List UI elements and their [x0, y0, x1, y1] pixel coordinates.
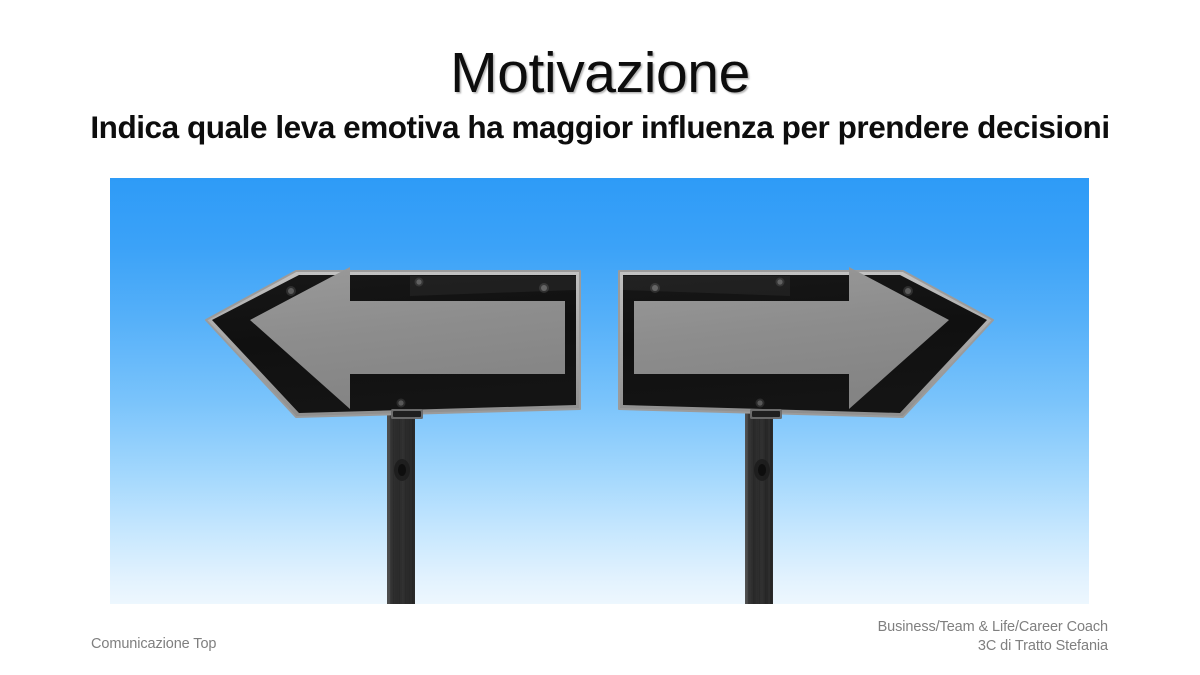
footer-right-line-1: Business/Team & Life/Career Coach	[878, 618, 1108, 637]
left-post	[387, 406, 415, 604]
sky-background	[110, 178, 1089, 604]
slide-image	[110, 178, 1089, 604]
page-subtitle: Indica quale leva emotiva ha maggior inf…	[0, 108, 1200, 146]
footer-left-text: Comunicazione Top	[91, 635, 216, 654]
right-post	[745, 406, 773, 604]
page-title: Motivazione	[0, 42, 1200, 104]
footer-right: Business/Team & Life/Career Coach 3C di …	[878, 618, 1108, 655]
footer-right-line-2: 3C di Tratto Stefania	[878, 637, 1108, 656]
direction-signs-illustration	[110, 178, 1089, 604]
